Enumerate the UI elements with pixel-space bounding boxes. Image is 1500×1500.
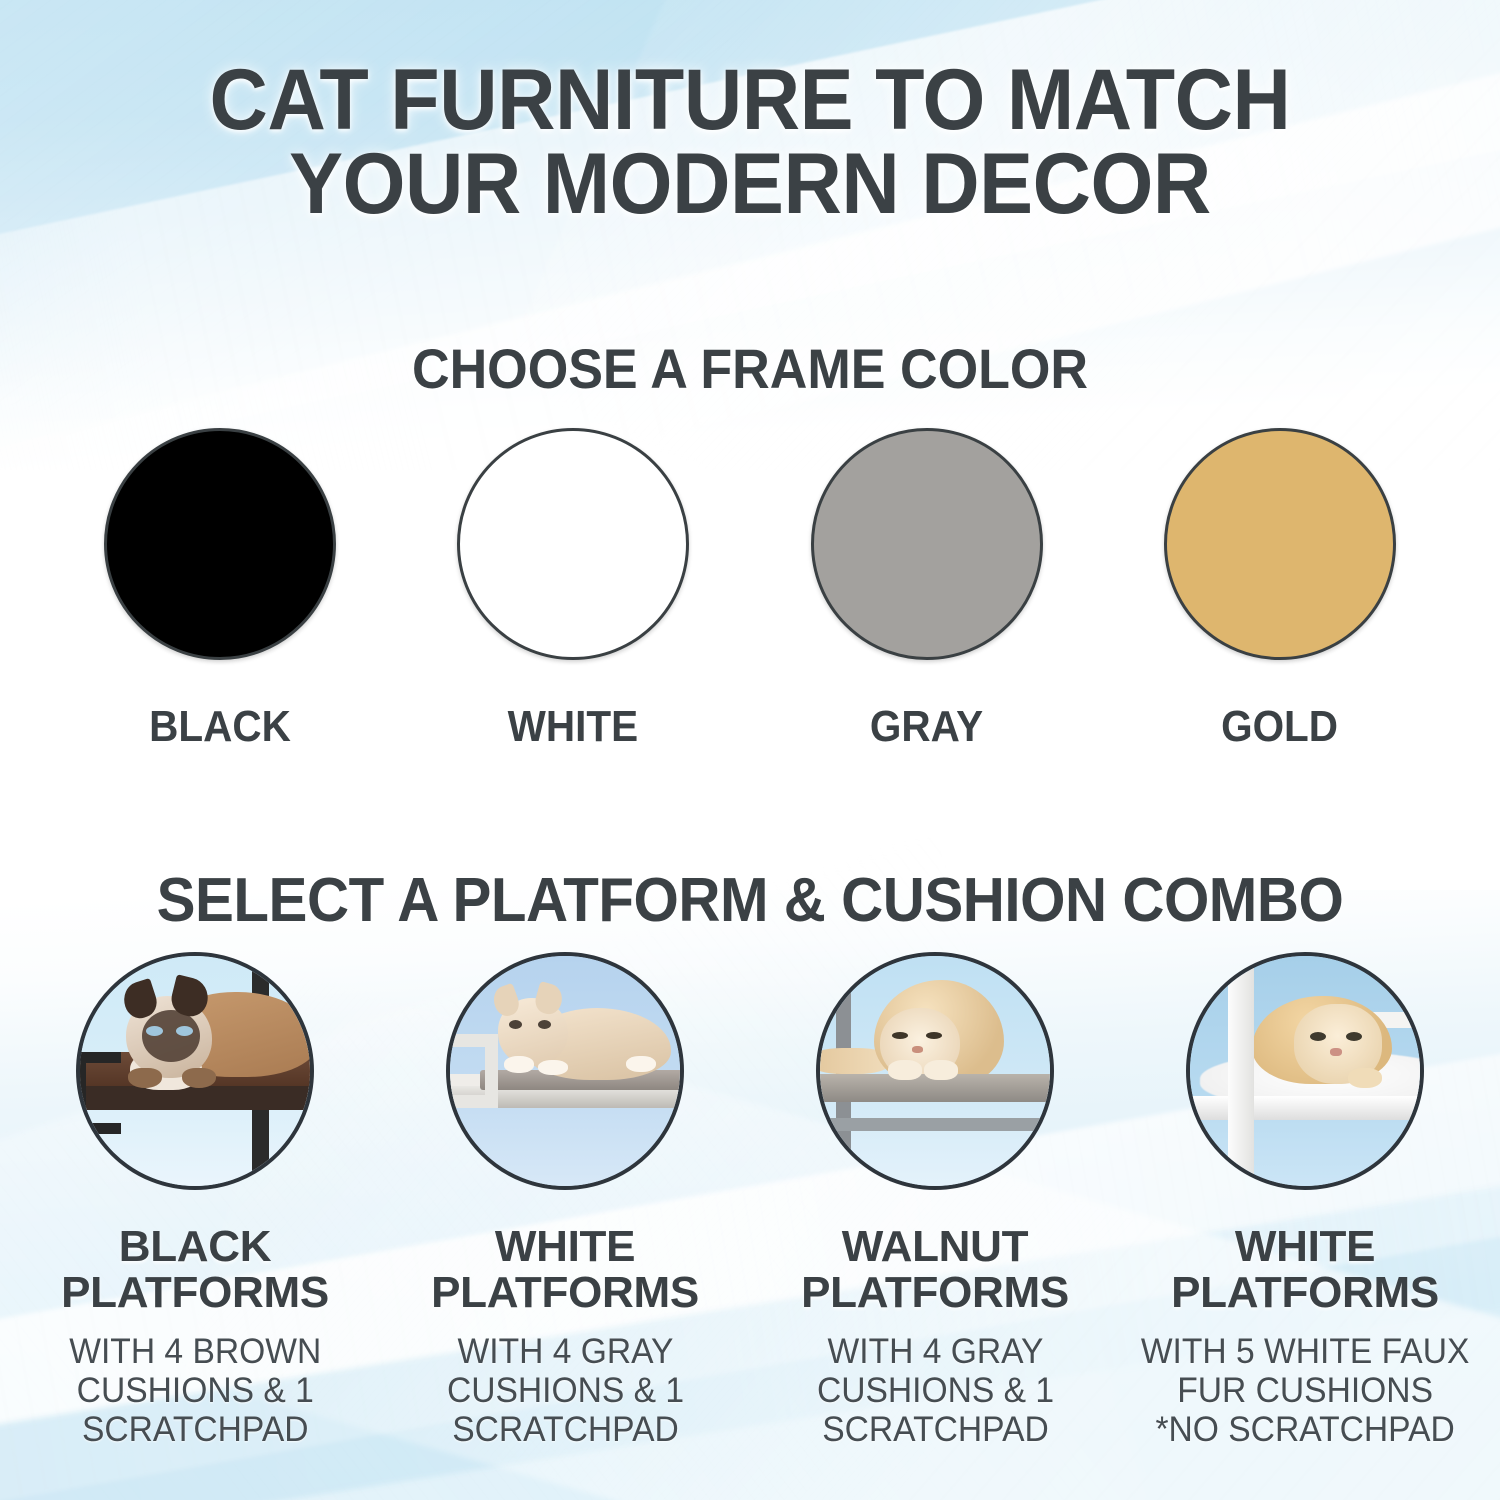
frame-color-option-white[interactable]: WHITE — [423, 428, 723, 752]
combo-option-white-platforms-fur[interactable]: WHITEPLATFORMS WITH 5 WHITE FAUXFUR CUSH… — [1130, 952, 1480, 1449]
frame-color-option-gray[interactable]: GRAY — [777, 428, 1077, 752]
combo-photo-walnut-platforms[interactable] — [816, 952, 1054, 1190]
infographic-page: CAT FURNITURE TO MATCH YOUR MODERN DECOR… — [0, 0, 1500, 1500]
swatch-label-black: BLACK — [149, 702, 291, 752]
platform-cushion-heading: SELECT A PLATFORM & CUSHION COMBO — [45, 865, 1455, 936]
siamese-cat-photo — [80, 956, 310, 1186]
page-title-line-2: YOUR MODERN DECOR — [45, 142, 1455, 226]
combo-title-white-platforms-gray: WHITEPLATFORMS — [431, 1224, 699, 1316]
combo-option-walnut-platforms[interactable]: WALNUTPLATFORMS WITH 4 GRAYCUSHIONS & 1S… — [760, 952, 1110, 1449]
swatch-label-gold: GOLD — [1222, 702, 1339, 752]
frame-color-swatch-row: BLACK WHITE GRAY GOLD — [70, 428, 1430, 758]
combo-option-white-platforms-gray[interactable]: WHITEPLATFORMS WITH 4 GRAYCUSHIONS & 1SC… — [390, 952, 740, 1449]
swatch-label-white: WHITE — [508, 702, 638, 752]
combo-photo-black-platforms[interactable] — [76, 952, 314, 1190]
platform-cushion-row: BLACKPLATFORMS WITH 4 BROWNCUSHIONS & 1S… — [20, 952, 1480, 1449]
combo-option-black-platforms[interactable]: BLACKPLATFORMS WITH 4 BROWNCUSHIONS & 1S… — [20, 952, 370, 1449]
combo-photo-white-platforms-gray[interactable] — [446, 952, 684, 1190]
swatch-circle-white[interactable] — [457, 428, 689, 660]
swatch-label-gray: GRAY — [870, 702, 983, 752]
combo-title-walnut-platforms: WALNUTPLATFORMS — [801, 1224, 1069, 1316]
combo-photo-white-platforms-fur[interactable] — [1186, 952, 1424, 1190]
swatch-circle-black[interactable] — [104, 428, 336, 660]
swatch-circle-gray[interactable] — [811, 428, 1043, 660]
swatch-circle-gold[interactable] — [1164, 428, 1396, 660]
cream-kitten-photo — [450, 956, 680, 1186]
combo-title-white-platforms-fur: WHITEPLATFORMS — [1171, 1224, 1439, 1316]
scottish-fold-fur-photo — [1190, 956, 1420, 1186]
frame-color-option-black[interactable]: BLACK — [70, 428, 370, 752]
combo-subtitle-walnut-platforms: WITH 4 GRAYCUSHIONS & 1SCRATCHPAD — [816, 1332, 1053, 1450]
combo-subtitle-black-platforms: WITH 4 BROWNCUSHIONS & 1SCRATCHPAD — [69, 1332, 321, 1450]
golden-fluffy-cat-photo — [820, 956, 1050, 1186]
frame-color-heading: CHOOSE A FRAME COLOR — [53, 336, 1448, 401]
frame-color-option-gold[interactable]: GOLD — [1130, 428, 1430, 752]
combo-subtitle-white-platforms-fur: WITH 5 WHITE FAUXFUR CUSHIONS*NO SCRATCH… — [1141, 1332, 1470, 1450]
combo-subtitle-white-platforms-gray: WITH 4 GRAYCUSHIONS & 1SCRATCHPAD — [446, 1332, 683, 1450]
combo-title-black-platforms: BLACKPLATFORMS — [61, 1224, 329, 1316]
page-title-line-1: CAT FURNITURE TO MATCH — [210, 52, 1291, 148]
page-title: CAT FURNITURE TO MATCH YOUR MODERN DECOR — [45, 58, 1455, 227]
